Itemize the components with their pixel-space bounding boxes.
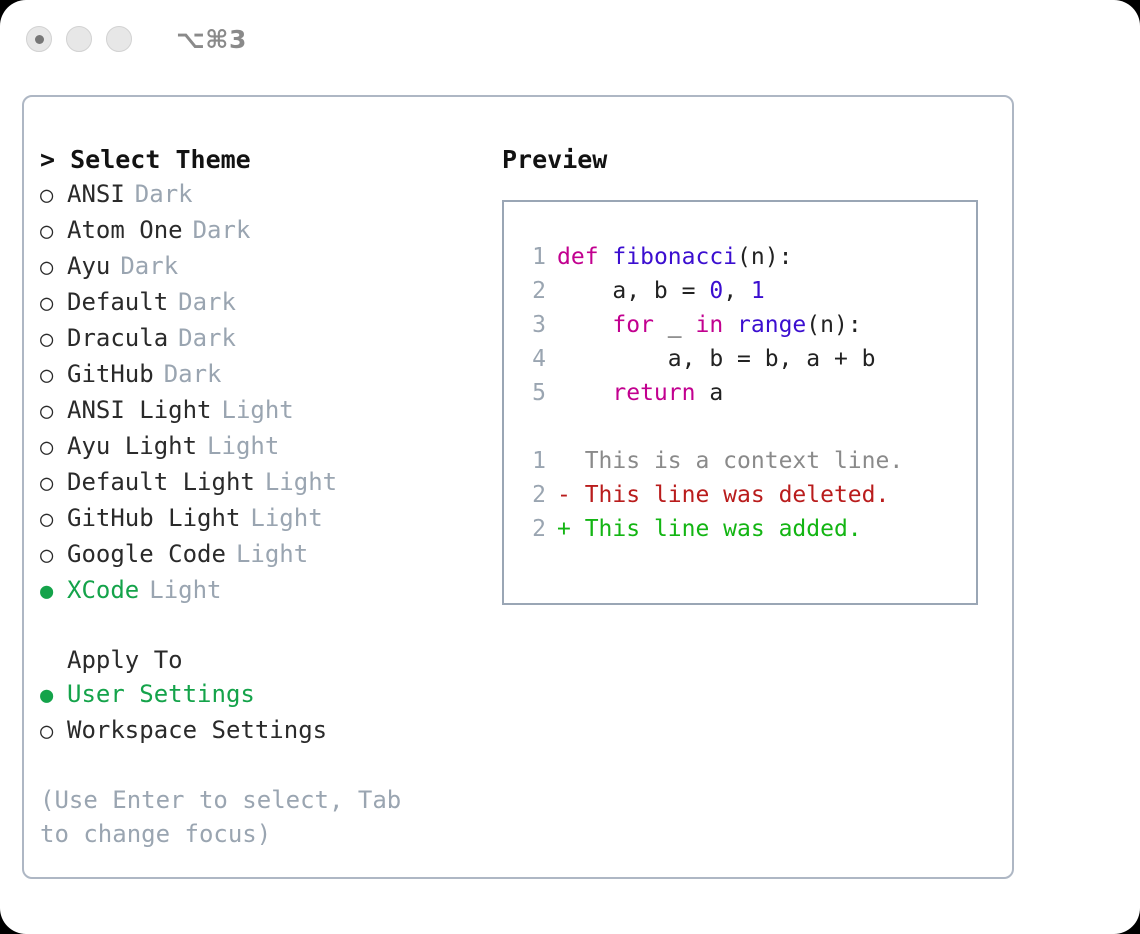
radio-unselected-icon: ○ [40, 323, 67, 357]
app-window: ⌥⌘3 > Select Theme ○ANSIDark○Atom OneDar… [0, 0, 1140, 934]
content-panel: > Select Theme ○ANSIDark○Atom OneDark○Ay… [22, 95, 1014, 879]
code-token: , [723, 278, 751, 304]
line-number: 2 [514, 512, 557, 546]
apply-to-option-label: Workspace Settings [67, 713, 327, 747]
preview-column: Preview 1def fibonacci(n):2 a, b = 0, 13… [502, 143, 1002, 605]
theme-option-ayu[interactable]: ○AyuDark [40, 249, 500, 285]
theme-option-variant-tag: Light [240, 501, 322, 535]
theme-option-label: Default [67, 285, 168, 319]
title-bar: ⌥⌘3 [0, 0, 1140, 78]
diff-line-text: This line was added. [571, 512, 862, 546]
radio-selected-icon: ● [40, 575, 67, 609]
preview-heading: Preview [502, 143, 1002, 177]
diff-line: 2- This line was deleted. [514, 478, 970, 512]
code-line-text: return a [557, 376, 723, 410]
line-number: 4 [514, 342, 557, 376]
diff-marker: + [557, 512, 571, 546]
diff-line: 2+ This line was added. [514, 512, 970, 546]
radio-unselected-icon: ○ [40, 431, 67, 465]
theme-option-label: Dracula [67, 321, 168, 355]
code-token: for [612, 312, 654, 338]
code-line: 1def fibonacci(n): [514, 240, 970, 274]
theme-option-variant-tag: Dark [110, 249, 178, 283]
theme-list: ○ANSIDark○Atom OneDark○AyuDark○DefaultDa… [40, 177, 500, 609]
line-number: 2 [514, 478, 557, 512]
code-token: fibonacci [612, 244, 737, 270]
theme-option-label: XCode [67, 573, 139, 607]
code-token [557, 312, 612, 338]
theme-option-default-light[interactable]: ○Default LightLight [40, 465, 500, 501]
diff-line: 1 This is a context line. [514, 444, 970, 478]
window-dot-two[interactable] [66, 26, 92, 52]
line-number: 3 [514, 308, 557, 342]
theme-option-github[interactable]: ○GitHubDark [40, 357, 500, 393]
window-dot-three[interactable] [106, 26, 132, 52]
theme-option-default[interactable]: ○DefaultDark [40, 285, 500, 321]
code-token: 0 [709, 278, 723, 304]
theme-option-label: ANSI [67, 177, 125, 211]
diff-line-text: This line was deleted. [571, 478, 890, 512]
theme-option-label: Google Code [67, 537, 226, 571]
select-theme-heading: > Select Theme [40, 143, 500, 177]
code-token: range [737, 312, 806, 338]
code-line: 4 a, b = b, a + b [514, 342, 970, 376]
apply-to-heading: Apply To [40, 643, 500, 677]
code-preview-area: 1def fibonacci(n):2 a, b = 0, 13 for _ i… [514, 240, 970, 546]
code-token [723, 312, 737, 338]
line-number: 1 [514, 240, 557, 274]
line-number: 5 [514, 376, 557, 410]
radio-unselected-icon: ○ [40, 287, 67, 321]
code-token: (n): [737, 244, 792, 270]
radio-unselected-icon: ○ [40, 715, 67, 749]
code-token [599, 244, 613, 270]
code-token: in [695, 312, 723, 338]
code-line: 3 for _ in range(n): [514, 308, 970, 342]
theme-option-label: Ayu Light [67, 429, 197, 463]
radio-unselected-icon: ○ [40, 179, 67, 213]
code-token: a, b = [557, 278, 709, 304]
apply-to-option-workspace-settings[interactable]: ○Workspace Settings [40, 713, 500, 749]
apply-to-list: ●User Settings○Workspace Settings [40, 677, 500, 749]
radio-unselected-icon: ○ [40, 503, 67, 537]
code-token: _ [654, 312, 696, 338]
window-dot-active-inner [35, 35, 44, 44]
theme-option-google-code[interactable]: ○Google CodeLight [40, 537, 500, 573]
code-line-text: a, b = 0, 1 [557, 274, 765, 308]
apply-to-option-user-settings[interactable]: ●User Settings [40, 677, 500, 713]
theme-option-variant-tag: Light [197, 429, 279, 463]
preview-panel: 1def fibonacci(n):2 a, b = 0, 13 for _ i… [502, 200, 978, 605]
theme-option-github-light[interactable]: ○GitHub LightLight [40, 501, 500, 537]
theme-option-ansi[interactable]: ○ANSIDark [40, 177, 500, 213]
code-token: def [557, 244, 599, 270]
code-line: 5 return a [514, 376, 970, 410]
code-line-text: for _ in range(n): [557, 308, 862, 342]
apply-to-option-label: User Settings [67, 677, 255, 711]
diff-line-text: This is a context line. [571, 444, 903, 478]
line-number: 2 [514, 274, 557, 308]
keyboard-shortcut-label: ⌥⌘3 [176, 25, 247, 54]
code-diff-spacer [514, 410, 970, 444]
code-token: a [695, 380, 723, 406]
theme-option-label: GitHub Light [67, 501, 240, 535]
theme-option-variant-tag: Light [226, 537, 308, 571]
line-number: 1 [514, 444, 557, 478]
radio-unselected-icon: ○ [40, 215, 67, 249]
theme-option-xcode[interactable]: ●XCodeLight [40, 573, 500, 609]
theme-option-variant-tag: Dark [168, 285, 236, 319]
theme-option-dracula[interactable]: ○DraculaDark [40, 321, 500, 357]
theme-option-variant-tag: Dark [125, 177, 193, 211]
code-token [557, 380, 612, 406]
code-token: 1 [751, 278, 765, 304]
code-line-text: a, b = b, a + b [557, 342, 876, 376]
code-line-text: def fibonacci(n): [557, 240, 792, 274]
theme-option-variant-tag: Light [212, 393, 294, 427]
code-token: return [612, 380, 695, 406]
radio-unselected-icon: ○ [40, 251, 67, 285]
theme-option-label: Atom One [67, 213, 183, 247]
theme-option-variant-tag: Dark [168, 321, 236, 355]
theme-option-ayu-light[interactable]: ○Ayu LightLight [40, 429, 500, 465]
panel-columns: > Select Theme ○ANSIDark○Atom OneDark○Ay… [24, 97, 1012, 877]
code-token: a, b = b, a + b [557, 346, 876, 372]
radio-unselected-icon: ○ [40, 467, 67, 501]
radio-unselected-icon: ○ [40, 359, 67, 393]
theme-option-variant-tag: Light [139, 573, 221, 607]
theme-option-variant-tag: Dark [154, 357, 222, 391]
theme-option-label: Default Light [67, 465, 255, 499]
section-spacer [40, 609, 500, 643]
theme-option-variant-tag: Dark [183, 213, 251, 247]
theme-option-label: GitHub [67, 357, 154, 391]
code-line: 2 a, b = 0, 1 [514, 274, 970, 308]
theme-option-label: Ayu [67, 249, 110, 283]
theme-option-variant-tag: Light [255, 465, 337, 499]
diff-marker [557, 444, 571, 478]
theme-picker-column: > Select Theme ○ANSIDark○Atom OneDark○Ay… [40, 143, 500, 851]
keyboard-hint-text: (Use Enter to select, Tab to change focu… [40, 783, 440, 851]
radio-selected-icon: ● [40, 679, 67, 713]
radio-unselected-icon: ○ [40, 539, 67, 573]
theme-option-ansi-light[interactable]: ○ANSI LightLight [40, 393, 500, 429]
diff-sample: 1 This is a context line.2- This line wa… [514, 444, 970, 546]
diff-marker: - [557, 478, 571, 512]
code-token: (n): [806, 312, 861, 338]
theme-option-label: ANSI Light [67, 393, 212, 427]
radio-unselected-icon: ○ [40, 395, 67, 429]
window-dot-active[interactable] [26, 26, 52, 52]
code-sample: 1def fibonacci(n):2 a, b = 0, 13 for _ i… [514, 240, 970, 410]
theme-option-atom-one[interactable]: ○Atom OneDark [40, 213, 500, 249]
